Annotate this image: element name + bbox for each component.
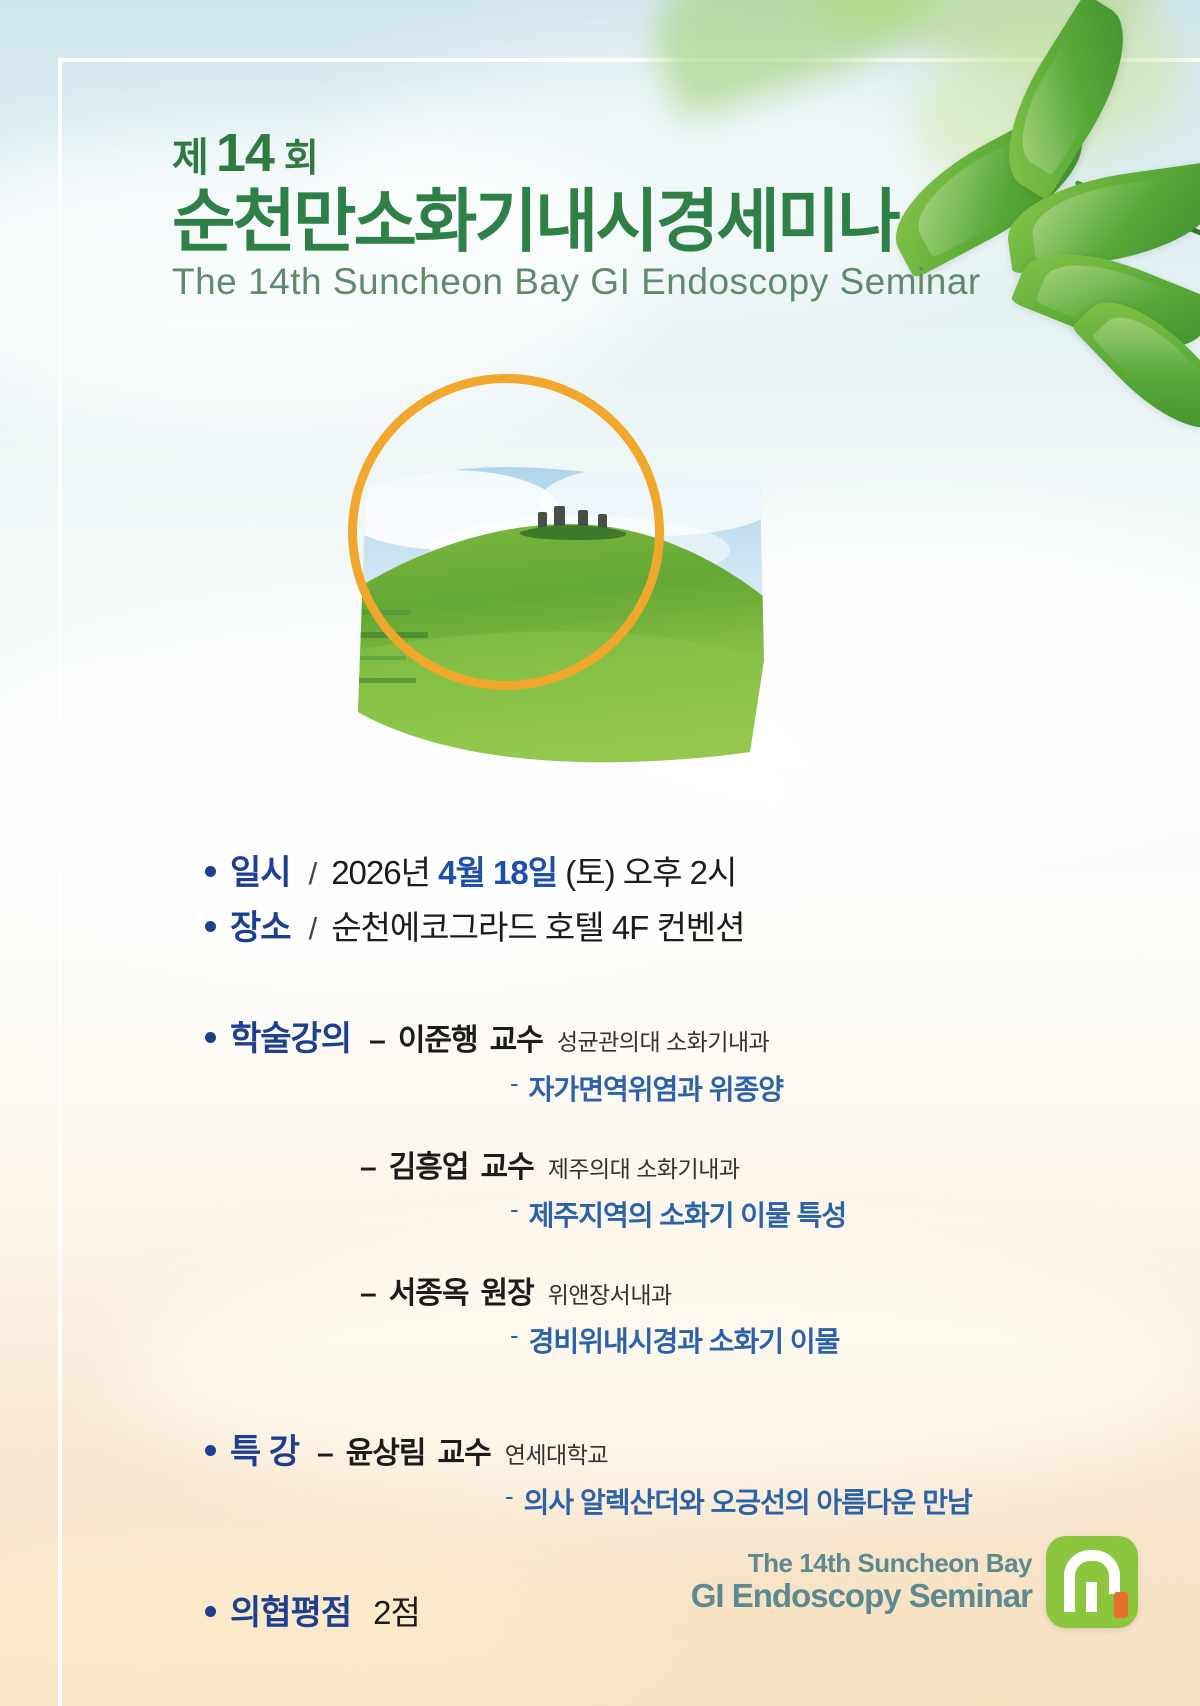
lecture-dash: – [360, 1277, 377, 1311]
edition-line: 제14회 [172, 122, 972, 184]
leaf-stem-icon [1075, 180, 1200, 241]
poster-canvas: 제14회 순천만소화기내시경세미나 The 14th Suncheon Bay … [0, 0, 1200, 1706]
credits-label: 의협평점 [230, 1585, 351, 1634]
datetime-separator: / [309, 856, 318, 892]
credits-value: 2점 [373, 1586, 420, 1634]
speaker-name: 서종옥 [389, 1268, 469, 1312]
leaf-blur-icon [816, 0, 1164, 91]
speaker-name: 김흥업 [389, 1142, 469, 1186]
speaker-affiliation: 제주의대 소화기내과 [548, 1150, 740, 1184]
footer-line-1: The 14th Suncheon Bay [691, 1549, 1032, 1578]
academic-lecture-row-1: – 김흥업 교수 제주의대 소화기내과 [360, 1142, 1165, 1186]
speaker-title: 교수 [438, 1428, 491, 1472]
datetime-row: 일시 / 2026년 4월 18일 (토) 오후 2시 [205, 845, 1165, 894]
logo-center-stem [1086, 1582, 1097, 1612]
edition-prefix: 제 [172, 136, 208, 180]
lecture-dash: – [360, 1151, 377, 1185]
speaker-affiliation: 연세대학교 [505, 1436, 608, 1470]
page-subtitle: The 14th Suncheon Bay GI Endoscopy Semin… [172, 261, 972, 303]
bullet-icon [205, 1032, 216, 1043]
lecture-topic: 의사 알렉산더와 오긍선의 아름다운 만남 [524, 1481, 972, 1521]
page-title: 순천만소화기내시경세미나 [172, 186, 972, 257]
lecture-topic: 자가면역위염과 위종양 [529, 1068, 783, 1108]
footer-text: The 14th Suncheon Bay GI Endoscopy Semin… [691, 1549, 1032, 1615]
lecture-dash: – [317, 1437, 334, 1471]
speaker-name: 윤상림 [346, 1428, 426, 1472]
venue-label: 장소 [230, 900, 291, 949]
logo-left-stem [1064, 1582, 1075, 1612]
special-lecture-topic-row: - 의사 알렉산더와 오긍선의 아름다운 만남 [505, 1481, 1165, 1521]
datetime-value: 2026년 4월 18일 (토) 오후 2시 [331, 846, 736, 894]
lecture-topic: 제주지역의 소화기 이물 특성 [529, 1194, 846, 1234]
venue-row: 장소 / 순천에코그라드 호텔 4F 컨벤션 [205, 900, 1165, 949]
footer-branding: The 14th Suncheon Bay GI Endoscopy Semin… [691, 1536, 1138, 1628]
lecture-topic-row-1: - 제주지역의 소화기 이물 특성 [510, 1194, 1165, 1234]
datetime-time: 오후 2시 [623, 854, 737, 891]
poster-details: 일시 / 2026년 4월 18일 (토) 오후 2시 장소 / 순천에코그라드… [205, 845, 1165, 1640]
datetime-day: 18일 [493, 854, 557, 891]
logo-orange-accent [1114, 1592, 1128, 1618]
venue-value: 순천에코그라드 호텔 4F 컨벤션 [331, 901, 744, 949]
datetime-month: 4월 [438, 854, 485, 891]
lecture-topic-row-0: - 자가면역위염과 위종양 [510, 1068, 1165, 1108]
topic-dash: - [510, 1194, 519, 1234]
bullet-icon [205, 866, 216, 877]
lecture-dash: – [369, 1024, 386, 1058]
academic-lecture-row-0: 학술강의 – 이준행 교수 성균관의대 소화기내과 [205, 1011, 1165, 1060]
datetime-weekday: (토) [565, 854, 614, 891]
bullet-icon [205, 1606, 216, 1617]
bullet-icon [205, 1445, 216, 1456]
venue-separator: / [309, 911, 318, 947]
lecture-topic: 경비위내시경과 소화기 이물 [529, 1320, 840, 1360]
speaker-affiliation: 위앤장서내과 [548, 1276, 672, 1310]
leaf-icon [1010, 229, 1200, 372]
edition-number: 14 [208, 123, 274, 183]
topic-dash: - [510, 1068, 519, 1108]
topic-dash: - [510, 1320, 519, 1360]
hero-image [330, 360, 780, 780]
academic-lecture-row-2: – 서종옥 원장 위앤장서내과 [360, 1268, 1165, 1312]
datetime-label: 일시 [230, 845, 291, 894]
speaker-title: 원장 [481, 1268, 534, 1312]
speaker-affiliation: 성균관의대 소화기내과 [557, 1023, 770, 1057]
special-lecture-row: 특 강 – 윤상림 교수 연세대학교 [205, 1424, 1165, 1473]
datetime-year: 2026년 [331, 854, 430, 891]
speaker-title: 교수 [481, 1142, 534, 1186]
footer-line-2: GI Endoscopy Seminar [691, 1578, 1032, 1615]
topic-dash: - [505, 1481, 514, 1521]
leaf-icon [1001, 162, 1200, 275]
leaf-icon [1071, 279, 1200, 451]
academic-lectures-label: 학술강의 [230, 1011, 351, 1060]
seminar-logo-icon [1046, 1536, 1138, 1628]
lecture-topic-row-2: - 경비위내시경과 소화기 이물 [510, 1320, 1165, 1360]
bullet-icon [205, 921, 216, 932]
leaf-blur-icon [634, 0, 966, 123]
edition-suffix: 회 [274, 138, 319, 180]
special-lecture-label: 특 강 [230, 1424, 299, 1473]
speaker-title: 교수 [490, 1015, 543, 1059]
leaf-icon [981, 0, 1151, 201]
speaker-name: 이준행 [398, 1015, 478, 1059]
poster-title-block: 제14회 순천만소화기내시경세미나 The 14th Suncheon Bay … [172, 122, 972, 303]
